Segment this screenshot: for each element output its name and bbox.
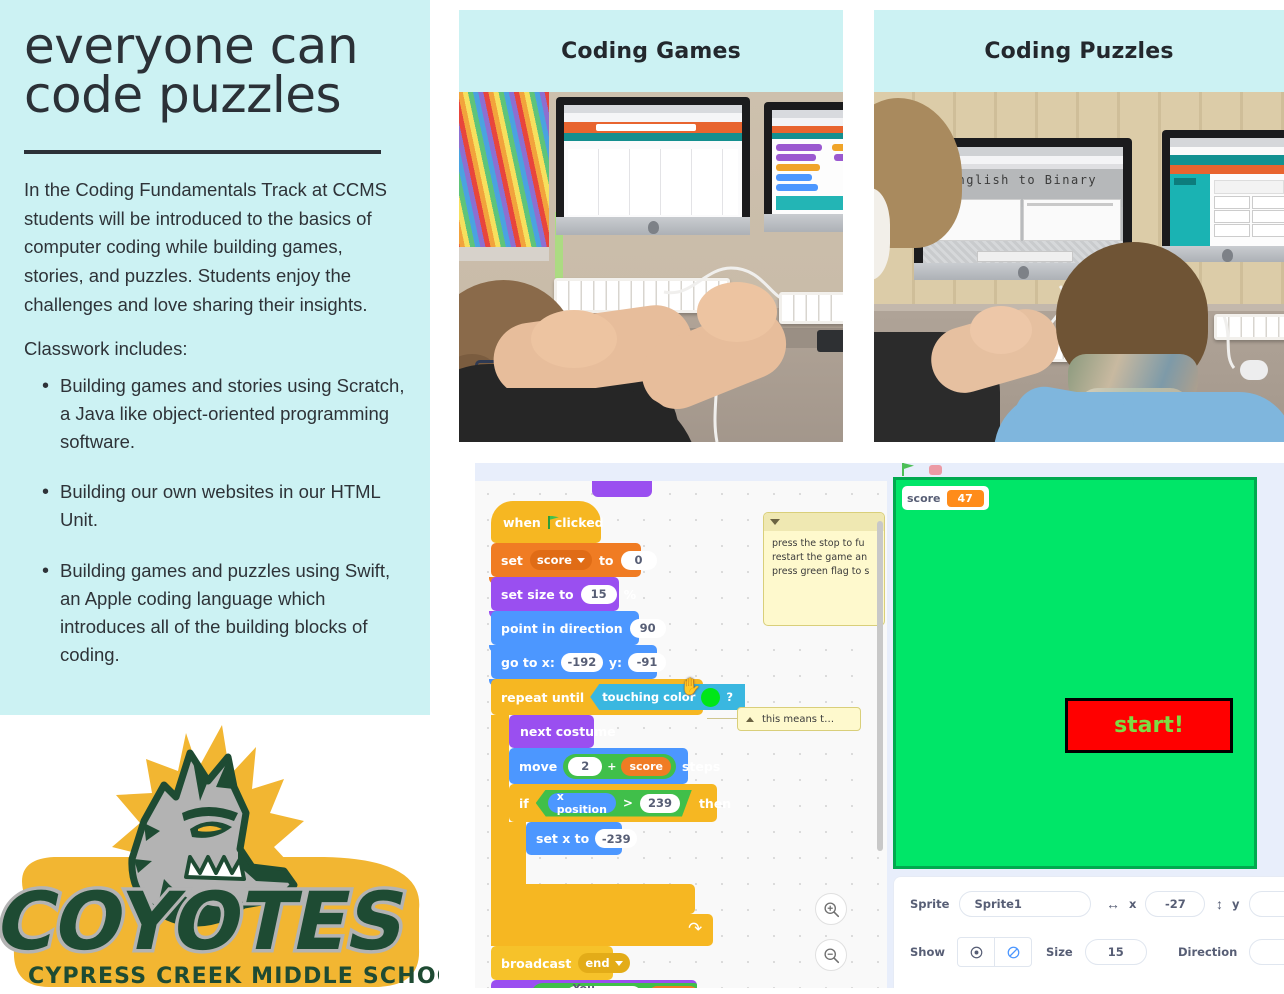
block-when-flag-clicked[interactable]: when clicked bbox=[491, 501, 601, 543]
chevron-down-icon bbox=[577, 558, 585, 563]
boolean-touching-color[interactable]: touching color ? bbox=[590, 684, 745, 710]
show-toggle-group[interactable] bbox=[957, 937, 1032, 967]
size-input[interactable]: 15 bbox=[1085, 939, 1147, 965]
horizontal-arrows-icon: ↔ bbox=[1106, 896, 1120, 912]
color-swatch[interactable] bbox=[701, 688, 720, 707]
comment-text: press the stop to fu restart the game an… bbox=[772, 537, 882, 578]
variable-dropdown[interactable]: score bbox=[530, 550, 592, 570]
stage-controls bbox=[893, 463, 1278, 477]
title-divider bbox=[24, 150, 381, 154]
stop-icon[interactable] bbox=[929, 465, 942, 475]
list-item: Building our own websites in our HTML Un… bbox=[46, 478, 406, 534]
value-input[interactable]: 2 bbox=[568, 757, 602, 776]
coding-puzzles-photo: English to Binary bbox=[874, 92, 1284, 442]
direction-input[interactable] bbox=[1249, 939, 1284, 965]
classwork-label: Classwork includes: bbox=[24, 335, 406, 364]
score-value: 47 bbox=[947, 490, 984, 507]
x-input[interactable]: -27 bbox=[1145, 891, 1205, 917]
chevron-down-icon[interactable] bbox=[770, 519, 780, 525]
logo-subtitle: CYPRESS CREEK MIDDLE SCHOOL bbox=[28, 964, 439, 989]
sprite-name-input[interactable]: Sprite1 bbox=[959, 891, 1091, 917]
block-set-x-to[interactable]: set x to -239 bbox=[526, 822, 622, 855]
value-input[interactable]: 15 bbox=[581, 585, 617, 604]
block-set-size[interactable]: set size to 15 % bbox=[491, 577, 619, 611]
repeat-block-bottom bbox=[491, 914, 713, 946]
card-title: Coding Games bbox=[561, 39, 741, 64]
card-header: Coding Puzzles bbox=[874, 10, 1284, 92]
green-flag-icon[interactable] bbox=[903, 463, 914, 475]
zoom-in-icon[interactable] bbox=[815, 893, 847, 925]
variable-reporter-score[interactable]: score bbox=[621, 757, 671, 776]
block-partial-top[interactable] bbox=[592, 481, 652, 497]
stage-column: score 47 start! Sprite Sprite1 ↔ x -27 ↕… bbox=[887, 463, 1284, 988]
chevron-up-icon[interactable] bbox=[746, 717, 754, 722]
direction-label: Direction bbox=[1178, 945, 1237, 959]
eye-visible-icon[interactable] bbox=[958, 938, 994, 966]
workspace-scrollbar[interactable] bbox=[877, 521, 883, 851]
list-item: Building games and stories using Scratch… bbox=[46, 372, 406, 456]
value-input[interactable]: 90 bbox=[630, 619, 666, 638]
x-input[interactable]: -192 bbox=[561, 653, 603, 672]
block-repeat-until[interactable]: repeat until touching color ? bbox=[491, 679, 703, 715]
comment-text: this means t… bbox=[762, 714, 834, 725]
intro-paragraph: In the Coding Fundamentals Track at CCMS… bbox=[24, 176, 406, 319]
card-title: Coding Puzzles bbox=[984, 39, 1173, 64]
block-go-to-xy[interactable]: go to x: -192 y: -91 bbox=[491, 645, 657, 679]
if-block-bottom bbox=[509, 884, 695, 914]
operator-greater-than[interactable]: x position > 239 bbox=[536, 790, 692, 817]
zoom-in-glyph bbox=[823, 901, 840, 918]
size-label: Size bbox=[1046, 945, 1073, 959]
reporter-x-position[interactable]: x position bbox=[548, 793, 616, 813]
operator-add[interactable]: 2 + score bbox=[563, 754, 676, 779]
vertical-arrows-icon: ↕ bbox=[1216, 896, 1223, 912]
block-point-in-direction[interactable]: point in direction 90 bbox=[491, 611, 639, 645]
editor-toolbar bbox=[475, 463, 887, 481]
classwork-list: Building games and stories using Scratch… bbox=[24, 372, 406, 669]
stage[interactable]: score 47 start! bbox=[893, 477, 1257, 869]
code-comment[interactable]: press the stop to fu restart the game an… bbox=[763, 512, 885, 626]
coding-puzzles-card: Coding Puzzles English to Binary bbox=[874, 10, 1284, 452]
eye-hidden-icon[interactable] bbox=[994, 938, 1031, 966]
comment-titlebar[interactable] bbox=[764, 513, 884, 531]
value-input[interactable]: 0 bbox=[621, 551, 657, 570]
y-label: y bbox=[1232, 897, 1240, 911]
comment-connector bbox=[707, 718, 739, 719]
block-if-then[interactable]: if x position > 239 then bbox=[509, 784, 717, 822]
operator-join[interactable]: join You scored score bbox=[531, 983, 697, 988]
start-label: start! bbox=[1114, 713, 1184, 738]
coding-games-photo bbox=[459, 92, 843, 442]
eye-slash-glyph bbox=[1006, 945, 1021, 960]
start-button-sprite[interactable]: start! bbox=[1065, 698, 1233, 753]
block-move-steps[interactable]: move 2 + score steps bbox=[509, 748, 688, 784]
zoom-out-icon[interactable] bbox=[815, 939, 847, 971]
show-label: Show bbox=[910, 945, 945, 959]
block-next-costume[interactable]: next costume bbox=[509, 715, 594, 748]
card-header: Coding Games bbox=[459, 10, 843, 92]
block-broadcast[interactable]: broadcast end bbox=[491, 946, 613, 980]
loop-arrow-icon: ↶ bbox=[688, 919, 702, 939]
block-say-join[interactable]: say join You scored score bbox=[491, 980, 697, 988]
sprite-label: Sprite bbox=[910, 897, 949, 911]
if-block-body bbox=[509, 822, 526, 884]
zoom-out-glyph bbox=[823, 947, 840, 964]
code-workspace[interactable]: when clicked set score to 0 set size to … bbox=[475, 481, 887, 988]
y-input[interactable]: -91 bbox=[628, 653, 666, 672]
code-comment-collapsed[interactable]: this means t… bbox=[737, 707, 861, 731]
value-input[interactable]: 239 bbox=[640, 794, 680, 813]
broadcast-dropdown[interactable]: end bbox=[578, 953, 629, 973]
coyotes-logo-svg: COYOTES CYPRESS CREEK MIDDLE SCHOOL bbox=[0, 709, 439, 994]
scratch-editor-screenshot: when clicked set score to 0 set size to … bbox=[475, 463, 1284, 988]
eye-glyph bbox=[969, 945, 984, 960]
repeat-block-body bbox=[491, 715, 509, 927]
value-input[interactable]: -239 bbox=[595, 829, 637, 848]
school-logo: COYOTES CYPRESS CREEK MIDDLE SCHOOL bbox=[0, 715, 430, 988]
page-title: everyone can code puzzles bbox=[24, 22, 406, 120]
logo-wordmark: COYOTES bbox=[0, 876, 415, 969]
list-item: Building games and puzzles using Swift, … bbox=[46, 557, 406, 669]
score-readout: score 47 bbox=[902, 486, 989, 510]
coding-games-card: Coding Games bbox=[459, 10, 843, 452]
x-label: x bbox=[1129, 897, 1136, 911]
block-set-variable[interactable]: set score to 0 bbox=[491, 543, 641, 577]
chevron-down-icon bbox=[615, 961, 623, 966]
intro-panel: everyone can code puzzles In the Coding … bbox=[0, 0, 430, 715]
sprite-info-panel: Sprite Sprite1 ↔ x -27 ↕ y Show bbox=[893, 876, 1284, 988]
cursor-hand-icon: ✋ bbox=[680, 677, 701, 697]
score-label: score bbox=[907, 492, 941, 505]
y-input[interactable] bbox=[1249, 891, 1284, 917]
